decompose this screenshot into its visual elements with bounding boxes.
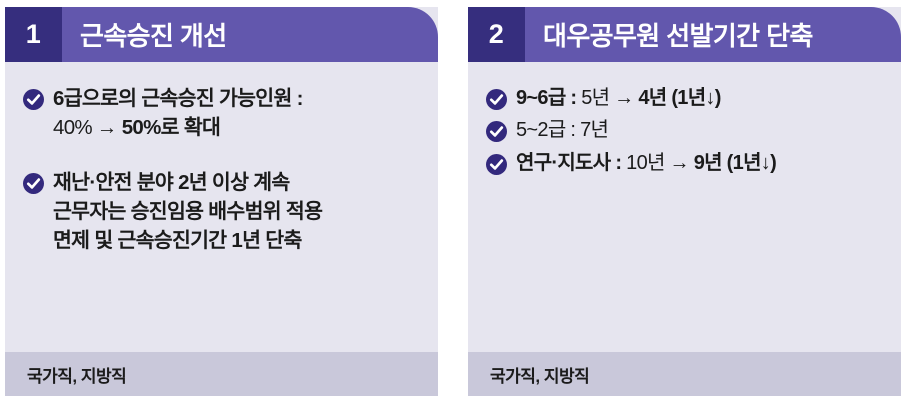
card-1-bullet-1: 6급으로의 근속승진 가능인원 : 40% → 50%로 확대 bbox=[23, 84, 420, 142]
bullet-span: 5~2급 : 7년 bbox=[516, 119, 608, 141]
card-2-footer-text: 국가직, 지방직 bbox=[490, 362, 589, 387]
card-2-body: 9~6급 : 5년 → 4년 (1년↓) 5~2급 : 7년 bbox=[468, 62, 901, 352]
card-2-bullet-3: 연구·지도사 : 10년 → 9년 (1년↓) bbox=[486, 149, 883, 177]
bullet-line: 근무자는 승진임용 배수범위 적용 bbox=[53, 197, 322, 226]
check-circle-icon bbox=[486, 121, 507, 142]
card-1-header: 1 근속승진 개선 bbox=[5, 7, 438, 62]
check-circle-icon bbox=[23, 89, 44, 110]
bullet-span: 연구·지도사 : bbox=[516, 152, 626, 174]
bullet-line: 재난·안전 분야 2년 이상 계속 bbox=[53, 168, 322, 197]
card-1-footer: 국가직, 지방직 bbox=[5, 352, 438, 396]
bullet-span: 9~6급 : bbox=[516, 87, 581, 109]
check-circle-icon bbox=[486, 89, 507, 110]
card-1-footer-text: 국가직, 지방직 bbox=[27, 362, 126, 387]
card-2-bullet-2: 5~2급 : 7년 bbox=[486, 116, 883, 144]
card-1-bullet-1-text: 6급으로의 근속승진 가능인원 : 40% → 50%로 확대 bbox=[53, 84, 303, 142]
card-1-bullet-2-text: 재난·안전 분야 2년 이상 계속 근무자는 승진임용 배수범위 적용 면제 및… bbox=[53, 168, 322, 255]
policy-card-2: 2 대우공무원 선발기간 단축 9~6급 : 5년 → 4년 (1년↓) bbox=[468, 7, 901, 396]
check-circle-icon bbox=[23, 173, 44, 194]
card-2-bullet-2-text: 5~2급 : 7년 bbox=[516, 116, 608, 144]
bullet-span: 6급으로의 근속승진 가능인원 : bbox=[53, 87, 303, 110]
bullet-span-emphasis: 9년 (1년↓) bbox=[694, 152, 776, 174]
card-2-bullet-1: 9~6급 : 5년 → 4년 (1년↓) bbox=[486, 84, 883, 112]
infographic-board: 1 근속승진 개선 6급으로의 근속승진 가능인원 : 40% → 50%로 확… bbox=[0, 0, 901, 406]
bullet-line: 면제 및 근속승진기간 1년 단축 bbox=[53, 226, 322, 255]
bullet-span: 5년 → bbox=[581, 87, 638, 109]
bullet-span: 40% → bbox=[53, 116, 122, 139]
bullet-line: 40% → 50%로 확대 bbox=[53, 113, 303, 142]
card-2-number-badge: 2 bbox=[468, 7, 525, 62]
card-2-bullet-1-text: 9~6급 : 5년 → 4년 (1년↓) bbox=[516, 84, 721, 112]
card-1-title: 근속승진 개선 bbox=[62, 16, 227, 53]
card-1-body: 6급으로의 근속승진 가능인원 : 40% → 50%로 확대 재난·안전 분야… bbox=[5, 62, 438, 352]
card-1-bullet-2: 재난·안전 분야 2년 이상 계속 근무자는 승진임용 배수범위 적용 면제 및… bbox=[23, 168, 420, 255]
card-2-header: 2 대우공무원 선발기간 단축 bbox=[468, 7, 901, 62]
bullet-span: 10년 → bbox=[626, 152, 694, 174]
bullet-span-emphasis: 4년 (1년↓) bbox=[638, 87, 720, 109]
policy-card-1: 1 근속승진 개선 6급으로의 근속승진 가능인원 : 40% → 50%로 확… bbox=[5, 7, 438, 396]
card-2-bullet-3-text: 연구·지도사 : 10년 → 9년 (1년↓) bbox=[516, 149, 776, 177]
card-2-title: 대우공무원 선발기간 단축 bbox=[525, 16, 813, 53]
bullet-span-emphasis: 50%로 확대 bbox=[122, 116, 220, 139]
card-2-footer: 국가직, 지방직 bbox=[468, 352, 901, 396]
bullet-line: 6급으로의 근속승진 가능인원 : bbox=[53, 84, 303, 113]
card-1-number-badge: 1 bbox=[5, 7, 62, 62]
check-circle-icon bbox=[486, 154, 507, 175]
